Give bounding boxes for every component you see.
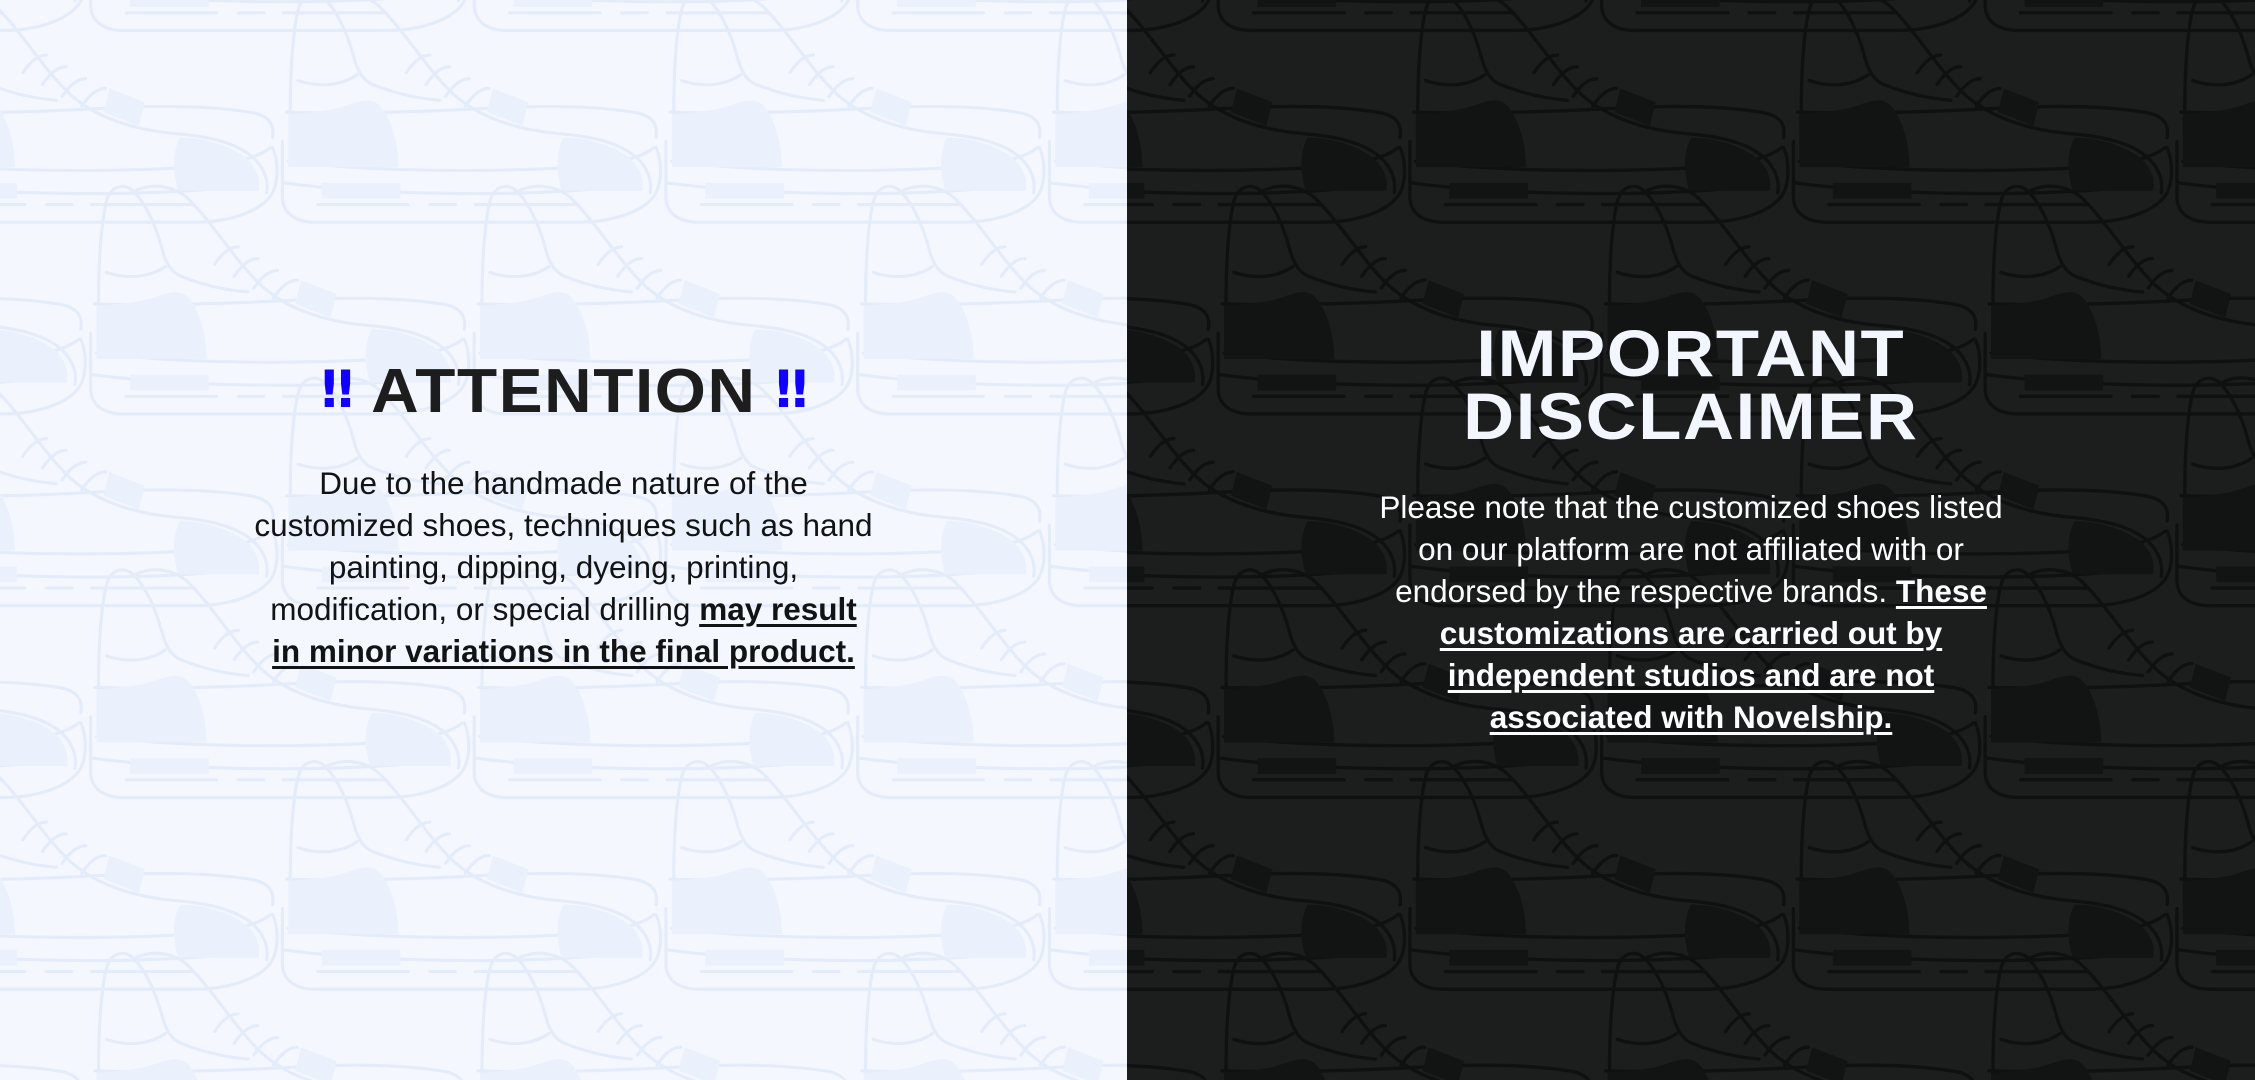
attention-body: Due to the handmade nature of the custom… bbox=[254, 463, 874, 672]
disclaimer-panel: IMPORTANT DISCLAIMER Please note that th… bbox=[1127, 0, 2255, 1080]
attention-heading-text: ATTENTION bbox=[371, 360, 756, 423]
attention-heading: ‼ ATTENTION ‼ bbox=[321, 360, 806, 423]
double-exclamation-left-icon: ‼ bbox=[321, 364, 352, 416]
disclaimer-heading: IMPORTANT DISCLAIMER bbox=[1478, 322, 1904, 447]
disclaimer-heading-line-1: IMPORTANT bbox=[1463, 322, 1918, 385]
disclaimer-body: Please note that the customized shoes li… bbox=[1371, 487, 2011, 738]
attention-panel: ‼ ATTENTION ‼ Due to the handmade nature… bbox=[0, 0, 1127, 1080]
attention-content: ‼ ATTENTION ‼ Due to the handmade nature… bbox=[0, 0, 1127, 673]
split-banner: ‼ ATTENTION ‼ Due to the handmade nature… bbox=[0, 0, 2255, 1080]
double-exclamation-right-icon: ‼ bbox=[775, 364, 806, 416]
disclaimer-content: IMPORTANT DISCLAIMER Please note that th… bbox=[1127, 0, 2255, 739]
disclaimer-heading-line-2: DISCLAIMER bbox=[1463, 385, 1918, 448]
